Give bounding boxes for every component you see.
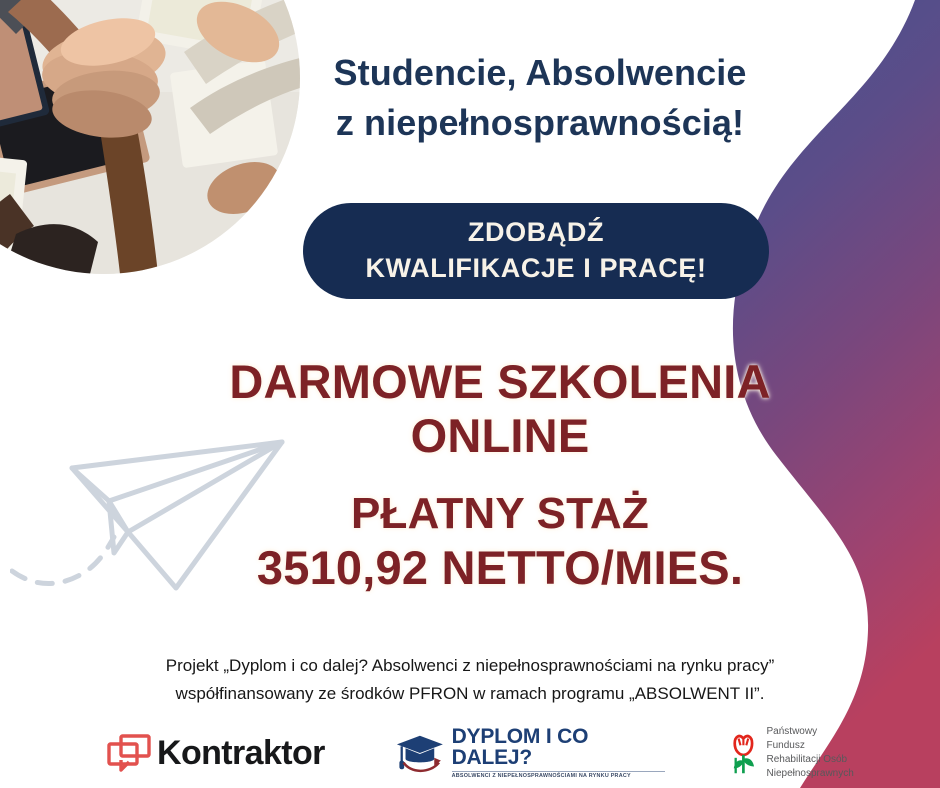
pfron-line-1: Państwowy Fundusz xyxy=(767,725,855,753)
logo-dyplom-i-co-dalej: DYPLOM I CO DALEJ? ABSOLWENCI Z NIEPEŁNO… xyxy=(395,726,665,780)
cta-line-1: ZDOBĄDŹ xyxy=(468,215,604,251)
logo-row: Kontraktor DYPLOM I CO DALEJ? ABSOLWENCI… xyxy=(95,722,855,784)
offer-training-line-2: ONLINE xyxy=(150,412,850,459)
dyplom-title: DYPLOM I CO DALEJ? xyxy=(452,726,665,768)
logo-kontraktor: Kontraktor xyxy=(107,734,325,773)
team-hands-together-photo xyxy=(0,0,300,274)
offer-internship: PŁATNY STAŻ 3510,92 NETTO/MIES. xyxy=(150,492,850,591)
project-disclaimer: Projekt „Dyplom i co dalej? Absolwenci z… xyxy=(70,652,870,707)
kontraktor-wordmark: Kontraktor xyxy=(157,734,325,773)
disclaimer-line-2: współfinansowany ze środków PFRON w rama… xyxy=(70,680,870,708)
disclaimer-line-1: Projekt „Dyplom i co dalej? Absolwenci z… xyxy=(70,652,870,680)
cta-button[interactable]: ZDOBĄDŹ KWALIFIKACJE I PRACĘ! xyxy=(303,203,769,299)
poster-canvas: Studencie, Absolwencie z niepełnosprawno… xyxy=(0,0,940,788)
offer-internship-amount: 3510,92 NETTO/MIES. xyxy=(150,544,850,591)
headline-line-2: z niepełnosprawnością! xyxy=(270,98,810,148)
speech-bubbles-icon xyxy=(107,734,151,772)
dyplom-subtitle: ABSOLWENCI Z NIEPEŁNOSPRAWNOŚCIAMI NA RY… xyxy=(452,771,665,780)
tulip-icon xyxy=(727,731,760,775)
offer-internship-line-1: PŁATNY STAŻ xyxy=(351,489,649,538)
pfron-name: Państwowy Fundusz Rehabilitacji Osób Nie… xyxy=(767,725,855,782)
headline-line-1: Studencie, Absolwencie xyxy=(334,52,747,93)
logo-pfron: Państwowy Fundusz Rehabilitacji Osób Nie… xyxy=(727,725,855,782)
graduation-cap-icon xyxy=(395,730,445,776)
page-title: Studencie, Absolwencie z niepełnosprawno… xyxy=(270,48,810,147)
offer-training-line-1: DARMOWE SZKOLENIA xyxy=(229,355,770,408)
offer-training: DARMOWE SZKOLENIA ONLINE xyxy=(150,358,850,459)
pfron-line-3: Niepełnosprawnych xyxy=(767,767,855,781)
pfron-line-2: Rehabilitacji Osób xyxy=(767,753,855,767)
cta-line-2: KWALIFIKACJE I PRACĘ! xyxy=(365,251,706,287)
